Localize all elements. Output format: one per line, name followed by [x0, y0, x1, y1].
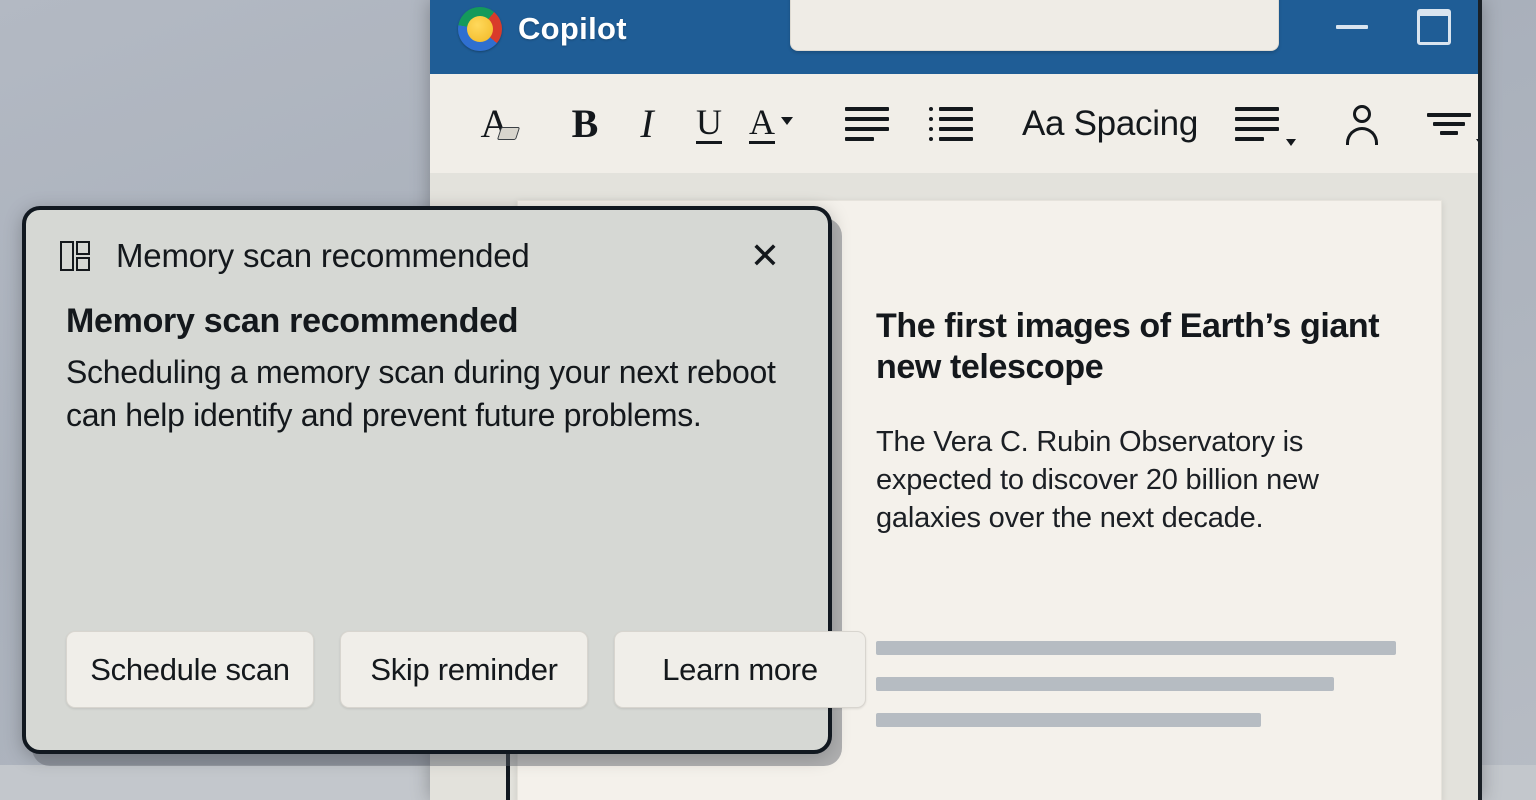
widget-layout-icon [60, 241, 90, 271]
placeholder-bar [876, 713, 1261, 727]
close-icon[interactable]: ✕ [742, 233, 788, 279]
clear-formatting-button[interactable]: A [464, 89, 526, 159]
placeholder-bar [876, 677, 1334, 691]
schedule-scan-button[interactable]: Schedule scan [66, 631, 314, 708]
chevron-down-icon [1476, 139, 1482, 146]
spacing-label: Aa Spacing [1022, 104, 1198, 144]
skip-reminder-button[interactable]: Skip reminder [340, 631, 588, 708]
dialog-header-title: Memory scan recommended [116, 237, 742, 275]
people-button[interactable] [1326, 89, 1398, 159]
content-placeholder-bars [876, 641, 1396, 749]
formatting-toolbar: A B I U A [430, 74, 1478, 174]
article-content: The first images of Earth’s giant new te… [876, 306, 1396, 538]
font-color-button[interactable]: A [740, 89, 802, 159]
toolbar-group-people [1326, 89, 1482, 159]
bold-icon: B [572, 104, 599, 144]
dialog-connector-line [506, 754, 510, 800]
font-eraser-icon: A [481, 104, 510, 144]
filter-icon [1427, 113, 1471, 135]
spacing-button[interactable]: Aa Spacing [1016, 89, 1204, 159]
search-input[interactable] [790, 0, 1279, 51]
line-spacing-button[interactable] [1216, 89, 1298, 159]
align-left-icon [845, 107, 889, 141]
article-body: The Vera C. Rubin Observatory is expecte… [876, 423, 1396, 538]
dialog-title: Memory scan recommended [66, 302, 788, 341]
minimize-icon [1336, 25, 1368, 29]
chevron-down-icon [1286, 139, 1296, 146]
filter-button[interactable] [1410, 89, 1482, 159]
dialog-body: Memory scan recommended Scheduling a mem… [26, 302, 828, 436]
chevron-down-icon [781, 117, 793, 125]
memory-scan-dialog: Memory scan recommended ✕ Memory scan re… [22, 206, 832, 754]
dialog-message: Scheduling a memory scan during your nex… [66, 351, 788, 436]
toolbar-group-paragraph [830, 89, 988, 159]
bulleted-list-button[interactable] [914, 89, 988, 159]
italic-button[interactable]: I [616, 89, 678, 159]
maximize-button[interactable] [1408, 4, 1460, 50]
bulleted-list-icon [929, 107, 973, 141]
person-icon [1342, 103, 1382, 145]
app-brand: Copilot [458, 7, 627, 51]
underline-button[interactable]: U [678, 89, 740, 159]
learn-more-button[interactable]: Learn more [614, 631, 866, 708]
underline-icon: U [696, 104, 722, 144]
window-controls [1326, 4, 1460, 50]
copilot-logo-icon [458, 7, 502, 51]
minimize-button[interactable] [1326, 4, 1378, 50]
article-title: The first images of Earth’s giant new te… [876, 306, 1396, 389]
toolbar-group-spacing: Aa Spacing [1016, 89, 1298, 159]
dialog-actions: Schedule scan Skip reminder Learn more [66, 631, 866, 708]
maximize-icon [1417, 9, 1451, 45]
toolbar-group-clear: A [464, 89, 526, 159]
dialog-header: Memory scan recommended ✕ [26, 210, 828, 302]
placeholder-bar [876, 641, 1396, 655]
align-left-button[interactable] [830, 89, 904, 159]
font-color-icon: A [749, 104, 775, 144]
bold-button[interactable]: B [554, 89, 616, 159]
line-spacing-icon [1235, 107, 1279, 141]
toolbar-group-style: B I U A [554, 89, 802, 159]
title-bar: Copilot [430, 0, 1478, 77]
italic-icon: I [640, 104, 653, 144]
app-title: Copilot [518, 11, 627, 47]
